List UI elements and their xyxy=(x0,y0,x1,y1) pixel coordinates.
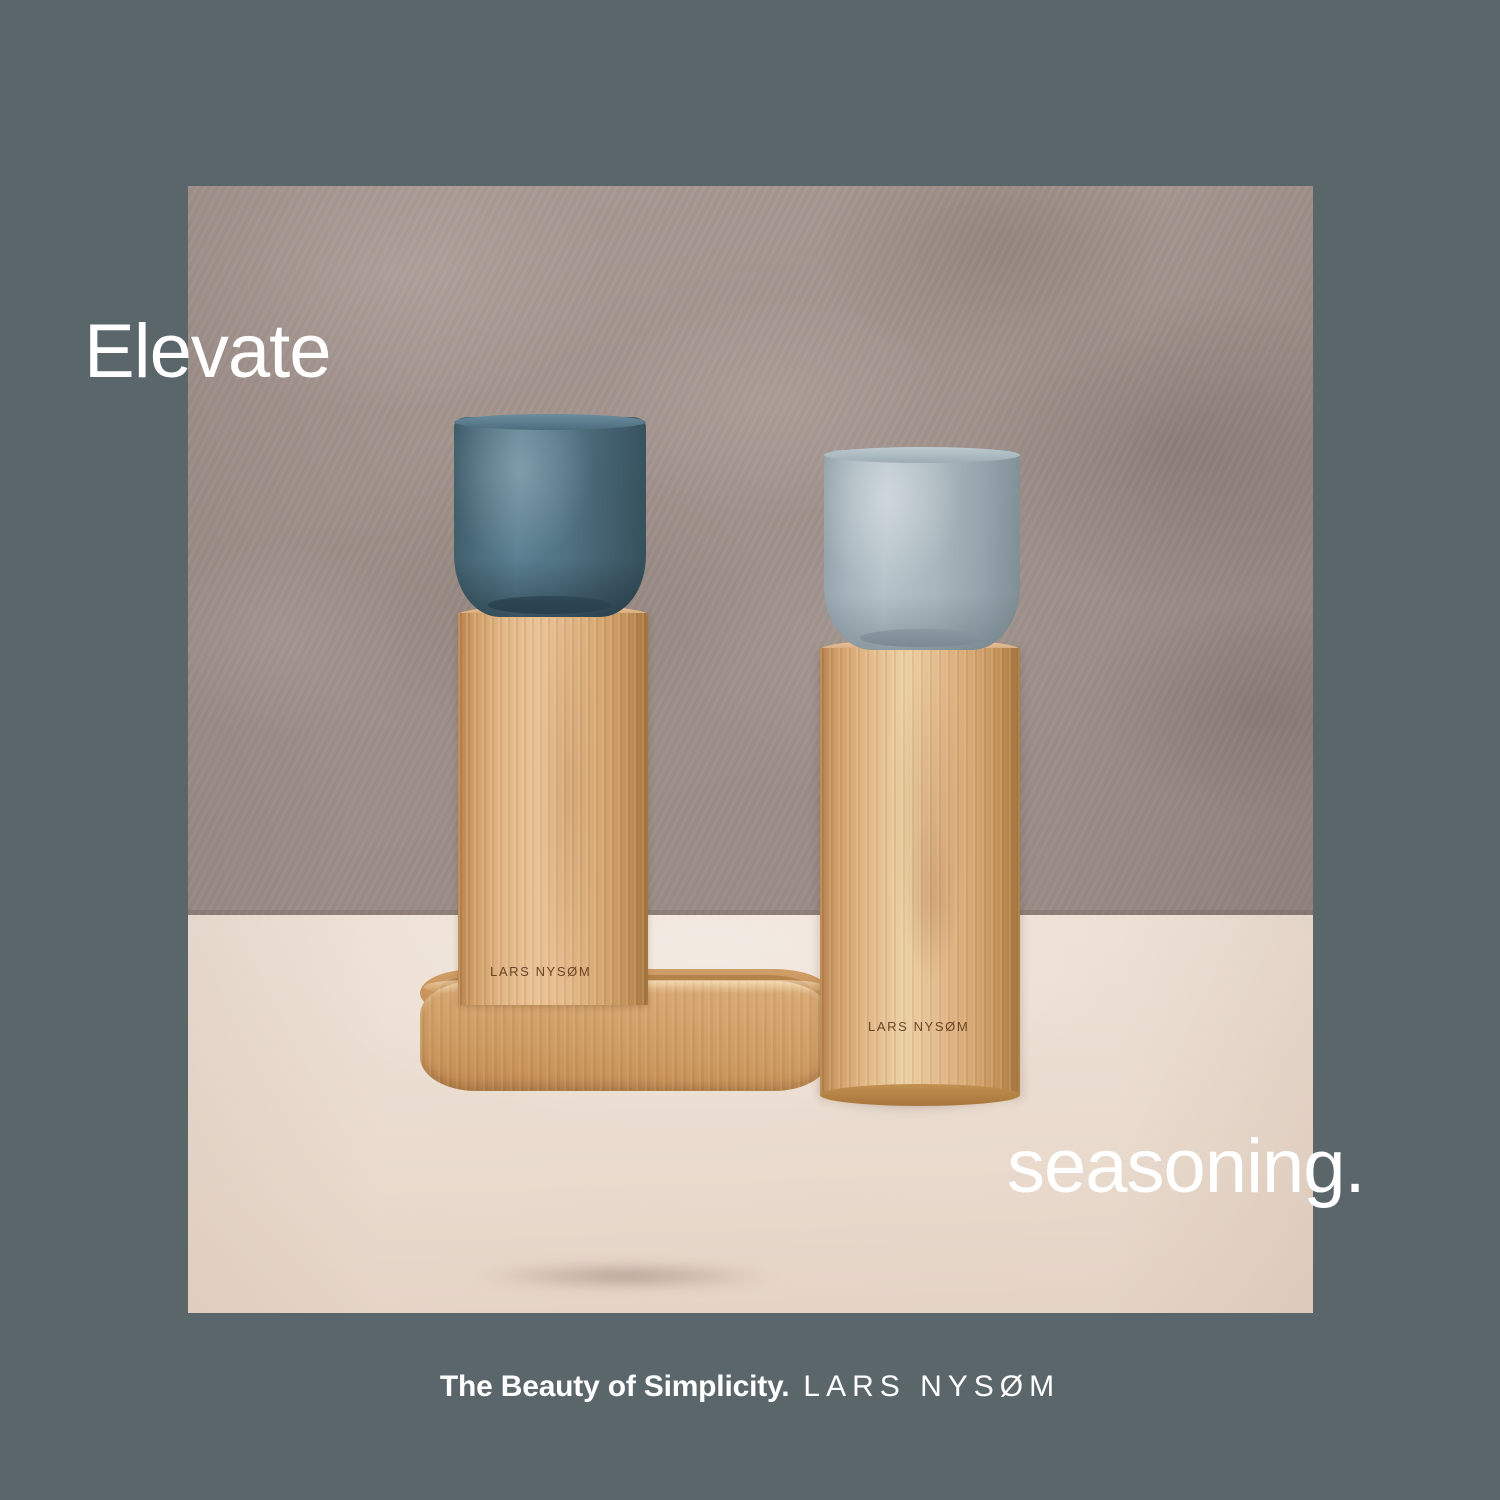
grinder-dark-cap-rim xyxy=(454,414,646,430)
grinder-light-body-base xyxy=(820,1084,1020,1106)
grinder-dark-cap-foot xyxy=(488,596,612,614)
tray-shadow xyxy=(416,1258,836,1294)
grinder-dark-ceramic-cap xyxy=(454,417,646,617)
grinder-light-cap-rim xyxy=(824,447,1020,463)
headline-line-two: seasoning. xyxy=(1007,1129,1365,1205)
footer-tagline: The Beauty of Simplicity. xyxy=(440,1370,790,1404)
grinder-dark-wood-body xyxy=(458,613,648,1005)
concrete-wall-backdrop xyxy=(188,186,1313,916)
grinder-light-cap-foot xyxy=(860,629,986,647)
footer-bar: The Beauty of Simplicity. LARS NYSØM xyxy=(0,1370,1500,1404)
brand-logo-wordmark: LARS NYSØM xyxy=(803,1370,1060,1404)
headline-line-one: Elevate xyxy=(84,314,331,390)
brand-engraving-light-grinder: LARS NYSØM xyxy=(868,1019,969,1034)
grinder-light-ceramic-cap xyxy=(824,450,1020,650)
brand-engraving-dark-grinder: LARS NYSØM xyxy=(490,964,591,979)
